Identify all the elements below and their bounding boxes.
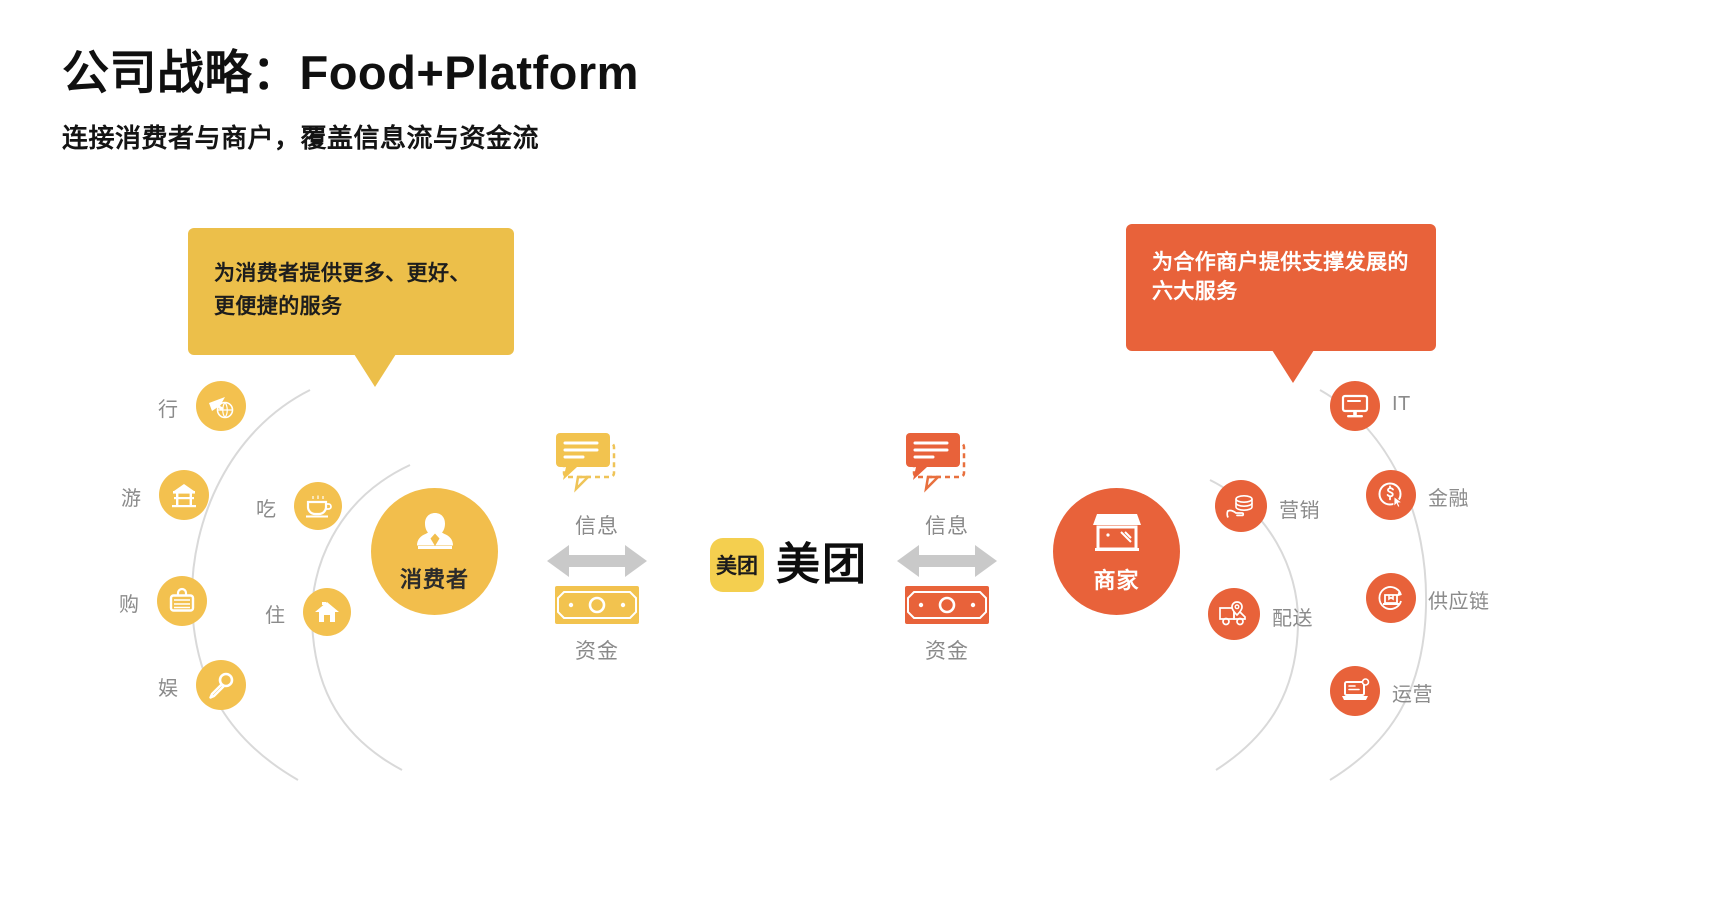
- house-icon: [303, 588, 351, 636]
- callout-merchant: 为合作商户提供支撑发展的 六大服务: [1126, 224, 1436, 351]
- callout-merchant-line1: 为合作商户提供支撑发展的: [1152, 248, 1410, 277]
- callout-tail-icon: [354, 354, 396, 387]
- monitor-icon: [1330, 381, 1380, 431]
- merchant-node-label: 运营: [1392, 678, 1433, 707]
- hub-consumer-label: 消费者: [400, 562, 469, 594]
- banknote-icon: [877, 584, 1017, 631]
- flow-left-info-label: 信息: [527, 510, 667, 540]
- coins-hand-icon: [1215, 480, 1267, 532]
- double-arrow-icon: [527, 540, 667, 582]
- consumer-node-label: 行: [158, 393, 179, 422]
- flow-right-money-label: 资金: [877, 635, 1017, 665]
- laptop-operations-icon: [1330, 666, 1380, 716]
- meituan-mark-text: 美团: [716, 550, 758, 580]
- double-arrow-icon: [877, 540, 1017, 582]
- microphone-icon: [196, 660, 246, 710]
- flow-right-info-label: 信息: [877, 510, 1017, 540]
- consumer-node-label: 住: [265, 599, 286, 628]
- meituan-mark-icon: 美团: [710, 538, 764, 592]
- airplane-globe-icon: [196, 381, 246, 431]
- coffee-cup-icon: [294, 482, 342, 530]
- speech-bubbles-icon: [877, 425, 1017, 510]
- page-title: 公司战略：Food+Platform: [62, 46, 639, 100]
- pavilion-icon: [159, 470, 209, 520]
- supply-chain-icon: [1366, 573, 1416, 623]
- person-icon: [410, 509, 460, 558]
- callout-consumer-line1: 为消费者提供更多、更好、: [214, 258, 488, 291]
- storefront-icon: [1091, 508, 1143, 559]
- delivery-truck-icon: [1208, 588, 1260, 640]
- consumer-node-label: 购: [119, 588, 140, 617]
- merchant-node-label: 营销: [1279, 494, 1320, 523]
- flow-left: 信息 资金: [527, 425, 667, 665]
- consumer-node-label: 游: [121, 482, 142, 511]
- shopping-basket-icon: [157, 576, 207, 626]
- banknote-icon: [527, 584, 667, 631]
- merchant-node-label: 供应链: [1428, 585, 1490, 614]
- hub-merchant-label: 商家: [1093, 563, 1139, 595]
- meituan-wordmark: 美团: [776, 543, 868, 587]
- callout-consumer-line2: 更便捷的服务: [214, 291, 488, 324]
- hub-consumer[interactable]: 消费者: [371, 488, 498, 615]
- consumer-node-label: 娱: [158, 672, 179, 701]
- hub-merchant[interactable]: 商家: [1053, 488, 1180, 615]
- callout-merchant-line2: 六大服务: [1152, 277, 1410, 306]
- merchant-node-label: 金融: [1428, 482, 1469, 511]
- header: 公司战略：Food+Platform 连接消费者与商户，覆盖信息流与资金流: [62, 46, 639, 155]
- merchant-node-label: 配送: [1272, 602, 1313, 631]
- callout-tail-icon: [1272, 350, 1314, 383]
- consumer-node-label: 吃: [256, 493, 277, 522]
- finance-cursor-icon: [1366, 470, 1416, 520]
- callout-consumer: 为消费者提供更多、更好、 更便捷的服务: [188, 228, 514, 355]
- meituan-logo: 美团 美团: [710, 538, 868, 592]
- flow-right: 信息 资金: [877, 425, 1017, 665]
- page-subtitle: 连接消费者与商户，覆盖信息流与资金流: [62, 118, 639, 155]
- speech-bubbles-icon: [527, 425, 667, 510]
- flow-left-money-label: 资金: [527, 635, 667, 665]
- merchant-node-label: IT: [1392, 393, 1411, 416]
